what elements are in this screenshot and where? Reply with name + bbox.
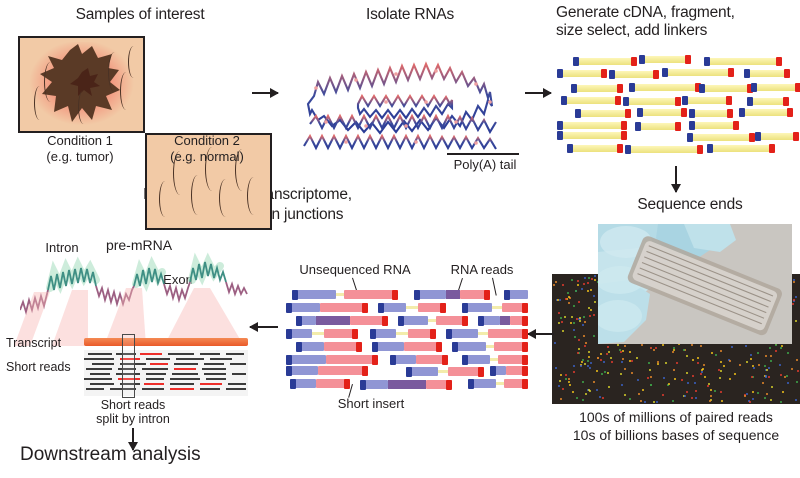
flowcell-cluster-dot	[686, 355, 688, 357]
flowcell-cluster-dot	[710, 389, 712, 391]
arrow-sequence-to-reads	[528, 333, 554, 335]
flowcell-cluster-dot	[562, 388, 564, 390]
flowcell-cluster-dot	[621, 361, 623, 363]
flowcell-cluster-dot	[557, 299, 559, 301]
flowcell-cluster-dot	[597, 357, 599, 359]
flowcell-cluster-dot	[707, 385, 709, 387]
flowcell-cluster-dot	[582, 359, 584, 361]
flowcell-cluster-dot	[795, 399, 797, 401]
flowcell-cluster-dot	[673, 349, 675, 351]
flowcell-cluster-dot	[746, 393, 748, 395]
flowcell-cluster-dot	[560, 317, 562, 319]
flowcell-cluster-dot	[692, 375, 694, 377]
flowcell-cluster-dot	[571, 316, 573, 318]
flowcell-cluster-dot	[568, 302, 570, 304]
flowcell-cluster-dot	[695, 390, 697, 392]
flowcell-cluster-dot	[700, 373, 702, 375]
flowcell-cluster-dot	[720, 350, 722, 352]
flowcell-cluster-dot	[770, 360, 772, 362]
flowcell-cluster-dot	[729, 360, 731, 362]
flowcell-cluster-dot	[558, 312, 560, 314]
flowcell-cluster-dot	[611, 361, 613, 363]
flowcell-cluster-dot	[562, 330, 564, 332]
flowcell-cluster-dot	[650, 384, 652, 386]
flowcell-cluster-dot	[555, 367, 557, 369]
flowcell-cluster-dot	[565, 298, 567, 300]
flowcell-cluster-dot	[576, 397, 578, 399]
flowcell-cluster-dot	[681, 379, 683, 381]
flowcell-cluster-dot	[587, 290, 589, 292]
flowcell-cluster-dot	[600, 353, 602, 355]
flowcell-cluster-dot	[577, 280, 579, 282]
flowcell-cluster-dot	[771, 386, 773, 388]
flowcell-cluster-dot	[692, 359, 694, 361]
flowcell-cluster-dot	[580, 365, 582, 367]
flowcell-cluster-dot	[687, 382, 689, 384]
flowcell-cluster-dot	[656, 401, 658, 403]
flowcell-cluster-dot	[594, 279, 596, 281]
flowcell-cluster-dot	[582, 399, 584, 401]
flowcell-cluster-dot	[793, 281, 795, 283]
flowcell-cluster-dot	[668, 383, 670, 385]
arrow-samples-to-isolate	[252, 92, 278, 94]
flowcell-cluster-dot	[787, 352, 789, 354]
flowcell-cluster-dot	[703, 364, 705, 366]
flowcell-cluster-dot	[560, 398, 562, 400]
flowcell-cluster-dot	[603, 361, 605, 363]
flowcell-cluster-dot	[779, 364, 781, 366]
flowcell-cluster-dot	[560, 374, 562, 376]
flowcell-cluster-dot	[601, 373, 603, 375]
flowcell-cluster-dot	[711, 352, 713, 354]
flowcell-cluster-dot	[587, 360, 589, 362]
flowcell-cluster-dot	[686, 391, 688, 393]
flowcell-cluster-dot	[584, 277, 586, 279]
flowcell-cluster-dot	[770, 399, 772, 401]
paired-reads-group	[286, 290, 528, 394]
flowcell-cluster-dot	[753, 367, 755, 369]
flowcell-cluster-dot	[709, 400, 711, 402]
label-sequence-stat-line2: 10s of billions bases of sequence	[552, 428, 800, 443]
short-reads-pileup	[84, 350, 248, 396]
flowcell-cluster-dot	[583, 335, 585, 337]
flowcell-cluster-dot	[676, 362, 678, 364]
flowcell-cluster-dot	[578, 301, 580, 303]
flowcell-cluster-dot	[697, 357, 699, 359]
flowcell-cluster-dot	[624, 345, 626, 347]
label-condition1-line1: Condition 1	[14, 133, 146, 148]
flowcell-cluster-dot	[607, 346, 609, 348]
flowcell-cluster-dot	[636, 357, 638, 359]
label-unsequenced-rna: Unsequenced RNA	[290, 262, 420, 277]
flowcell-cluster-dot	[650, 376, 652, 378]
flowcell-cluster-dot	[569, 384, 571, 386]
flowcell-cluster-dot	[697, 362, 699, 364]
flowcell-cluster-dot	[593, 381, 595, 383]
flowcell-cluster-dot	[797, 370, 799, 372]
flowcell-cluster-dot	[750, 358, 752, 360]
flowcell-cluster-dot	[590, 309, 592, 311]
flowcell-cluster-dot	[672, 400, 674, 402]
heading-generate-cdna-line2: size select, add linkers	[556, 22, 800, 40]
flowcell-cluster-dot	[749, 401, 751, 403]
flowcell-cluster-dot	[770, 355, 772, 357]
flowcell-cluster-dot	[657, 363, 659, 365]
flowcell-cluster-dot	[793, 279, 795, 281]
flowcell-cluster-dot	[604, 371, 606, 373]
label-transcript: Transcript	[6, 336, 86, 351]
flowcell-cluster-dot	[608, 386, 610, 388]
flowcell-cluster-dot	[746, 361, 748, 363]
label-split-line1: Short reads	[78, 398, 188, 413]
label-condition1-line2: (e.g. tumor)	[14, 149, 146, 164]
arrow-map-to-downstream	[132, 428, 134, 450]
flowcell-cluster-dot	[596, 389, 598, 391]
flowcell-cluster-dot	[578, 348, 580, 350]
flowcell-cluster-dot	[589, 367, 591, 369]
flowcell-cluster-dot	[796, 359, 798, 361]
flowcell-cluster-dot	[795, 320, 797, 322]
flowcell-cluster-dot	[691, 397, 693, 399]
label-sequence-stat-line1: 100s of millions of paired reads	[552, 410, 800, 425]
flowcell-cluster-dot	[674, 378, 676, 380]
arrow-isolate-to-cdna	[525, 92, 551, 94]
flowcell-cluster-dot	[564, 316, 566, 318]
flowcell-cluster-dot	[553, 284, 555, 286]
flowcell-cluster-dot	[567, 292, 569, 294]
flowcell-cluster-dot	[683, 349, 685, 351]
flowcell-cluster-dot	[720, 370, 722, 372]
flowcell-cluster-dot	[559, 380, 561, 382]
label-polya-tail: Poly(A) tail	[440, 157, 530, 172]
flowcell-cluster-dot	[624, 394, 626, 396]
flowcell-cluster-dot	[629, 398, 631, 400]
flowcell-cluster-dot	[691, 344, 693, 346]
flowcell-cluster-dot	[641, 344, 643, 346]
flowcell-cluster-dot	[621, 384, 623, 386]
flowcell-cluster-dot	[581, 288, 583, 290]
flowcell-cluster-dot	[769, 347, 771, 349]
flowcell-cluster-dot	[766, 369, 768, 371]
flowcell-cluster-dot	[587, 282, 589, 284]
flowcell-cluster-dot	[565, 374, 567, 376]
flowcell-cluster-dot	[558, 322, 560, 324]
flowcell-cluster-dot	[602, 397, 604, 399]
flowcell-cluster-dot	[791, 368, 793, 370]
flowcell-cluster-dot	[594, 301, 596, 303]
flowcell-cluster-dot	[568, 378, 570, 380]
flowcell-cluster-dot	[719, 377, 721, 379]
flowcell-cluster-dot	[571, 279, 573, 281]
flowcell-cluster-dot	[647, 377, 649, 379]
flowcell-cluster-dot	[585, 393, 587, 395]
flowcell-cluster-dot	[593, 314, 595, 316]
label-split-line2: split by intron	[78, 412, 188, 427]
flowcell-cluster-dot	[572, 391, 574, 393]
flowcell-cluster-dot	[757, 392, 759, 394]
flowcell-cluster-dot	[695, 397, 697, 399]
flowcell-cluster-dot	[718, 369, 720, 371]
heading-isolate-rnas: Isolate RNAs	[290, 6, 530, 24]
flowcell-cluster-dot	[684, 395, 686, 397]
flowcell-cluster-dot	[591, 278, 593, 280]
flowcell-cluster-dot	[786, 375, 788, 377]
flowcell-cluster-dot	[655, 347, 657, 349]
flowcell-cluster-dot	[575, 290, 577, 292]
label-short-reads: Short reads	[6, 360, 88, 375]
flowcell-cluster-dot	[710, 395, 712, 397]
flowcell-cluster-dot	[650, 347, 652, 349]
flowcell-cluster-dot	[768, 367, 770, 369]
flowcell-cluster-dot	[764, 397, 766, 399]
flowcell-cluster-dot	[721, 400, 723, 402]
flowcell-cluster-dot	[757, 352, 759, 354]
flowcell-cluster-dot	[752, 398, 754, 400]
flowcell-cluster-dot	[555, 281, 557, 283]
flowcell-cluster-dot	[622, 358, 624, 360]
flowcell-cluster-dot	[723, 365, 725, 367]
flowcell-cluster-dot	[744, 395, 746, 397]
heading-samples-of-interest: Samples of interest	[20, 6, 260, 24]
flowcell-cluster-dot	[700, 345, 702, 347]
flowcell-cluster-dot	[561, 321, 563, 323]
flowcell-cluster-dot	[787, 382, 789, 384]
flowcell-cluster-dot	[593, 295, 595, 297]
flowcell-cluster-dot	[558, 385, 560, 387]
flowcell-cluster-dot	[775, 350, 777, 352]
flowcell-cluster-dot	[758, 364, 760, 366]
flowcell-cluster-dot	[694, 382, 696, 384]
flowcell-cluster-dot	[768, 376, 770, 378]
heading-generate-cdna-line1: Generate cDNA, fragment,	[556, 4, 800, 22]
flowcell-cluster-dot	[653, 401, 655, 403]
flowcell-cluster-dot	[622, 350, 624, 352]
flowcell-cluster-dot	[665, 362, 667, 364]
flowcell-cluster-dot	[582, 324, 584, 326]
flowcell-cluster-dot	[583, 283, 585, 285]
flowcell-cluster-dot	[764, 365, 766, 367]
heading-downstream-analysis: Downstream analysis	[20, 444, 270, 466]
flowcell-cluster-dot	[554, 342, 556, 344]
flowcell-cluster-dot	[673, 369, 675, 371]
flowcell-cluster-dot	[584, 345, 586, 347]
flowcell-cluster-dot	[578, 339, 580, 341]
flowcell-cluster-dot	[584, 363, 586, 365]
flowcell-cluster-dot	[624, 368, 626, 370]
flowcell-cluster-dot	[714, 390, 716, 392]
flowcell-cluster-dot	[795, 296, 797, 298]
flowcell-cluster-dot	[559, 299, 561, 301]
flowcell-cluster-dot	[631, 372, 633, 374]
flowcell-cluster-dot	[765, 355, 767, 357]
flowcell-cluster-dot	[588, 277, 590, 279]
flowcell-cluster-dot	[590, 289, 592, 291]
flowcell-cluster-dot	[588, 351, 590, 353]
label-condition2-line2: (e.g. normal)	[141, 149, 273, 164]
flowcell-cluster-dot	[648, 362, 650, 364]
flowcell-cluster-dot	[574, 336, 576, 338]
heading-sequence-ends: Sequence ends	[590, 196, 790, 214]
cdna-fragments-group	[552, 56, 800, 166]
flowcell-cluster-dot	[585, 342, 587, 344]
flowcell-cluster-dot	[589, 315, 591, 317]
label-short-insert: Short insert	[316, 396, 426, 411]
flowcell-cluster-dot	[588, 356, 590, 358]
flowcell-cluster-dot	[739, 364, 741, 366]
flowcell-photo	[598, 224, 792, 344]
flowcell-cluster-dot	[608, 351, 610, 353]
flowcell-cluster-dot	[573, 371, 575, 373]
transcript-bar	[84, 338, 248, 346]
flowcell-cluster-dot	[642, 389, 644, 391]
flowcell-cluster-dot	[607, 372, 609, 374]
flowcell-cluster-dot	[704, 376, 706, 378]
rna-strands-illustration	[286, 38, 536, 158]
flowcell-cluster-dot	[573, 365, 575, 367]
flowcell-cluster-dot	[568, 381, 570, 383]
flowcell-cluster-dot	[734, 373, 736, 375]
flowcell-cluster-dot	[766, 393, 768, 395]
flowcell-cluster-dot	[573, 329, 575, 331]
flowcell-cluster-dot	[750, 354, 752, 356]
intron-split-highlight	[122, 334, 135, 398]
flowcell-cluster-dot	[631, 360, 633, 362]
flowcell-cluster-dot	[594, 275, 596, 277]
flowcell-cluster-dot	[720, 361, 722, 363]
flowcell-cluster-dot	[729, 378, 731, 380]
flowcell-cluster-dot	[584, 321, 586, 323]
flowcell-cluster-dot	[720, 391, 722, 393]
flowcell-cluster-dot	[663, 377, 665, 379]
flowcell-cluster-dot	[672, 351, 674, 353]
arrow-cdna-to-sequence	[675, 166, 677, 192]
flowcell-cluster-dot	[796, 381, 798, 383]
flowcell-cluster-dot	[593, 335, 595, 337]
flowcell-cluster-dot	[579, 317, 581, 319]
flowcell-cluster-dot	[644, 401, 646, 403]
flowcell-cluster-dot	[583, 316, 585, 318]
flowcell-cluster-dot	[752, 391, 754, 393]
flowcell-cluster-dot	[640, 400, 642, 402]
flowcell-cluster-dot	[745, 345, 747, 347]
flowcell-cluster-dot	[573, 305, 575, 307]
flowcell-cluster-dot	[762, 382, 764, 384]
label-condition2-line1: Condition 2	[141, 133, 273, 148]
flowcell-cluster-dot	[573, 322, 575, 324]
flowcell-cluster-dot	[596, 370, 598, 372]
flowcell-cluster-dot	[782, 391, 784, 393]
flowcell-cluster-dot	[590, 362, 592, 364]
flowcell-cluster-dot	[588, 307, 590, 309]
flowcell-cluster-dot	[565, 378, 567, 380]
flowcell-cluster-dot	[673, 347, 675, 349]
flowcell-cluster-dot	[562, 284, 564, 286]
sample-image-condition1	[18, 36, 145, 133]
flowcell-cluster-dot	[780, 347, 782, 349]
flowcell-cluster-dot	[629, 351, 631, 353]
flowcell-cluster-dot	[649, 369, 651, 371]
flowcell-cluster-dot	[731, 346, 733, 348]
flowcell-cluster-dot	[715, 354, 717, 356]
flowcell-cluster-dot	[577, 284, 579, 286]
flowcell-cluster-dot	[662, 344, 664, 346]
flowcell-cluster-dot	[638, 393, 640, 395]
polya-bracket	[447, 153, 519, 155]
flowcell-cluster-dot	[657, 361, 659, 363]
flowcell-cluster-dot	[582, 381, 584, 383]
flowcell-cluster-dot	[637, 379, 639, 381]
flowcell-cluster-dot	[620, 373, 622, 375]
label-rna-reads: RNA reads	[432, 262, 532, 277]
flowcell-cluster-dot	[780, 401, 782, 403]
flowcell-cluster-dot	[579, 320, 581, 322]
flowcell-cluster-dot	[686, 372, 688, 374]
flowcell-cluster-dot	[610, 357, 612, 359]
flowcell-cluster-dot	[662, 394, 664, 396]
flowcell-cluster-dot	[606, 353, 608, 355]
flowcell-cluster-dot	[780, 374, 782, 376]
flowcell-cluster-dot	[570, 322, 572, 324]
